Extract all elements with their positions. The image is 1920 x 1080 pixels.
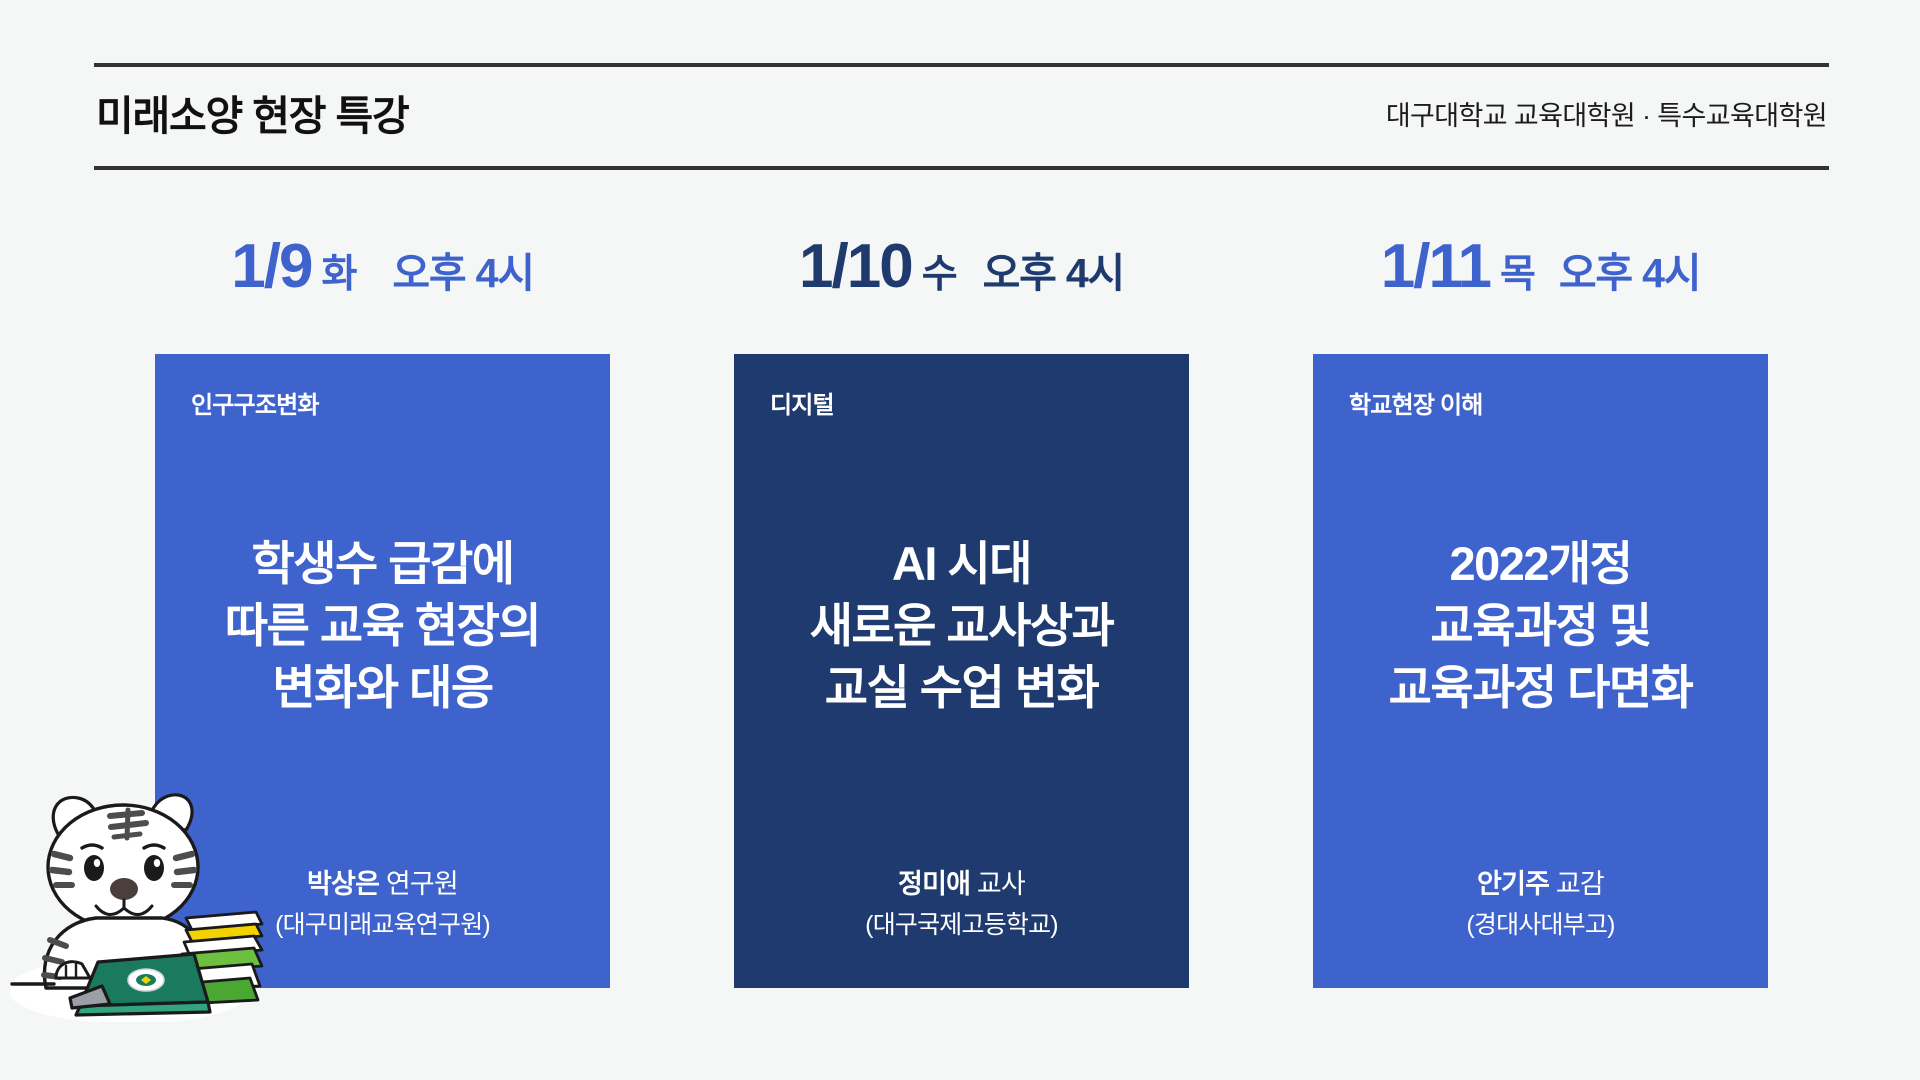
page-header: 미래소양 현장 특강 대구대학교 교육대학원 · 특수교육대학원 [94, 63, 1829, 170]
session-category-2: 디지털 [764, 394, 1159, 418]
session-title-2: AI 시대 새로운 교사상과 교실 수업 변화 [764, 418, 1159, 867]
session-title-line: AI 시대 [892, 533, 1031, 595]
speaker-role-3: 교감 [1556, 869, 1604, 899]
session-time-3: 오후 4시 [1559, 253, 1700, 294]
session-date-2: 1/10 [799, 236, 912, 298]
session-title-line: 교육과정 및 [1430, 595, 1650, 657]
session-title-line: 교육과정 다면화 [1389, 657, 1693, 719]
session-title-line: 교실 수업 변화 [825, 657, 1099, 719]
session-category-3: 학교현장 이해 [1343, 394, 1738, 418]
session-speaker-2: 정미애 교사 (대구국제고등학교) [764, 867, 1159, 942]
session-panel-3[interactable]: 학교현장 이해 2022개정 교육과정 및 교육과정 다면화 안기주 교감 (경… [1313, 354, 1768, 988]
speaker-name-row-2: 정미애 교사 [764, 867, 1159, 903]
session-time-2: 오후 4시 [983, 253, 1124, 294]
session-category-1: 인구구조변화 [185, 394, 580, 418]
speaker-name-1: 박상은 [307, 869, 379, 899]
speaker-name-2: 정미애 [898, 869, 970, 899]
session-title-line: 2022개정 [1449, 533, 1631, 595]
session-title-3: 2022개정 교육과정 및 교육과정 다면화 [1343, 418, 1738, 867]
session-card-2[interactable]: 1/10 수 오후 4시 디지털 AI 시대 새로운 교사상과 교실 수업 변화… [673, 236, 1250, 988]
session-title-line: 새로운 교사상과 [810, 595, 1114, 657]
speaker-role-1: 연구원 [386, 869, 458, 899]
session-date-3: 1/11 [1381, 236, 1490, 298]
page-title: 미래소양 현장 특강 [96, 96, 409, 137]
session-weekday-1: 화 [321, 255, 356, 294]
session-speaker-3: 안기주 교감 (경대사대부고) [1343, 867, 1738, 942]
speaker-name-row-3: 안기주 교감 [1343, 867, 1738, 903]
session-weekday-3: 목 [1500, 255, 1535, 294]
organization-label: 대구대학교 교육대학원 · 특수교육대학원 [1386, 103, 1827, 130]
speaker-name-3: 안기주 [1477, 869, 1549, 899]
tiger-mascot-icon [10, 772, 300, 1022]
session-title-line: 변화와 대응 [272, 657, 492, 719]
session-date-line-3: 1/11 목 오후 4시 [1381, 236, 1701, 354]
session-date-line-1: 1/9 화 오후 4시 [231, 236, 533, 354]
session-weekday-2: 수 [922, 255, 957, 294]
session-date-1: 1/9 [231, 236, 311, 298]
session-panel-2[interactable]: 디지털 AI 시대 새로운 교사상과 교실 수업 변화 정미애 교사 (대구국제… [734, 354, 1189, 988]
session-card-3[interactable]: 1/11 목 오후 4시 학교현장 이해 2022개정 교육과정 및 교육과정 … [1252, 236, 1829, 988]
session-time-1: 오후 4시 [392, 253, 533, 294]
speaker-affiliation-3: (경대사대부고) [1343, 909, 1738, 942]
session-card-grid: 1/9 화 오후 4시 인구구조변화 학생수 급감에 따른 교육 현장의 변화와… [94, 236, 1829, 988]
session-date-line-2: 1/10 수 오후 4시 [799, 236, 1124, 354]
speaker-role-2: 교사 [977, 869, 1025, 899]
session-title-line: 따른 교육 현장의 [225, 595, 540, 657]
speaker-affiliation-2: (대구국제고등학교) [764, 909, 1159, 942]
session-title-line: 학생수 급감에 [252, 533, 514, 595]
